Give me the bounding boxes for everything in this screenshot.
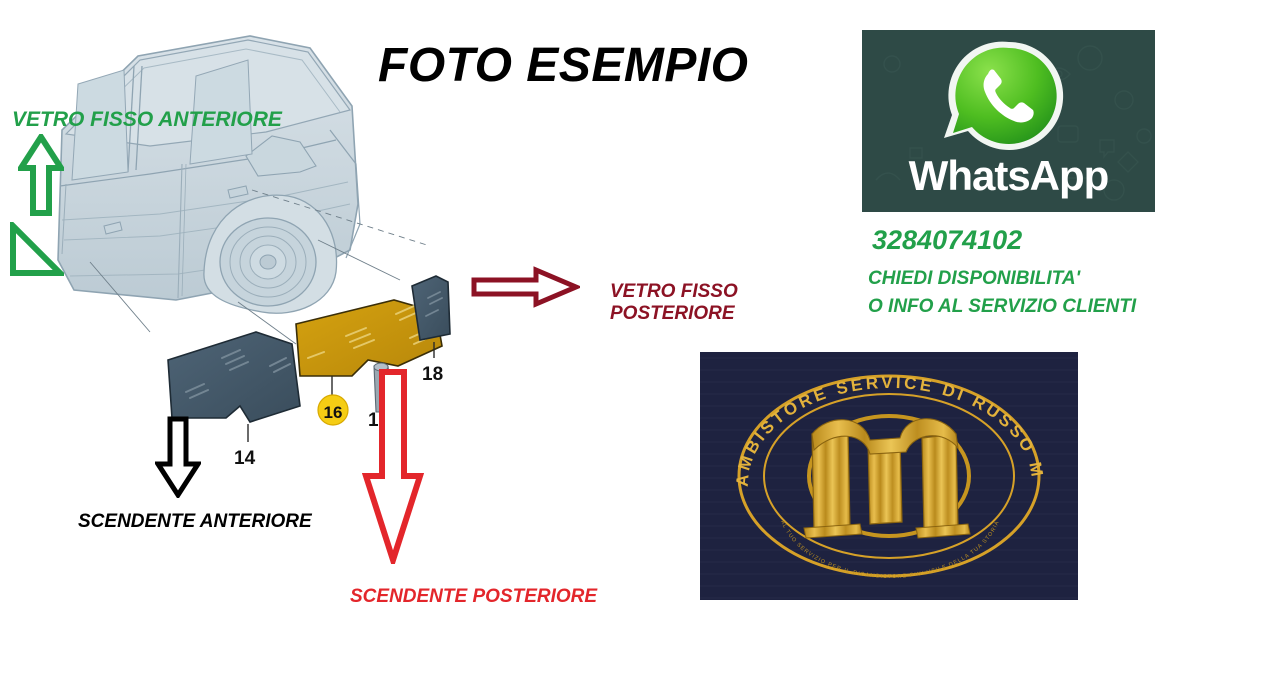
label-vetro-fisso-anteriore: VETRO FISSO ANTERIORE	[12, 108, 282, 133]
svg-text:16: 16	[324, 403, 343, 422]
car-body	[58, 36, 360, 313]
page-title: FOTO ESEMPIO	[378, 38, 749, 93]
contact-line-1: CHIEDI DISPONIBILITA'	[868, 268, 1080, 290]
contact-line-2: O INFO AL SERVIZIO CLIENTI	[868, 296, 1136, 318]
down-arrow-black-icon	[155, 416, 201, 498]
label-scendente-anteriore: SCENDENTE ANTERIORE	[78, 511, 312, 533]
right-arrow-darkred-icon	[470, 266, 580, 308]
callout-badge-16: 16	[318, 395, 348, 425]
whatsapp-wordmark: WhatsApp	[862, 152, 1155, 200]
svg-text:14: 14	[234, 448, 256, 464]
label-scendente-posteriore: SCENDENTE POSTERIORE	[350, 586, 597, 608]
right-triangle-green-icon	[8, 222, 64, 278]
mricambistore-logo-icon: MRICAMBISTORE SERVICE DI RUSSO MARCO AL …	[700, 352, 1078, 600]
shop-logo-photo: MRICAMBISTORE SERVICE DI RUSSO MARCO AL …	[700, 352, 1078, 600]
label-vetro-fisso-posteriore-line2: POSTERIORE	[610, 303, 738, 325]
whatsapp-logo-icon	[924, 36, 1094, 160]
svg-text:18: 18	[422, 364, 443, 385]
label-vetro-fisso-posteriore: VETRO FISSO POSTERIORE	[610, 281, 738, 326]
whatsapp-banner: WhatsApp	[862, 30, 1155, 212]
up-arrow-green-icon	[18, 134, 64, 216]
label-vetro-fisso-posteriore-line1: VETRO FISSO	[610, 281, 738, 303]
phone-number[interactable]: 3284074102	[872, 225, 1022, 256]
screenshot-root: 14 18 1	[0, 0, 1264, 678]
down-arrow-red-icon	[362, 368, 424, 564]
